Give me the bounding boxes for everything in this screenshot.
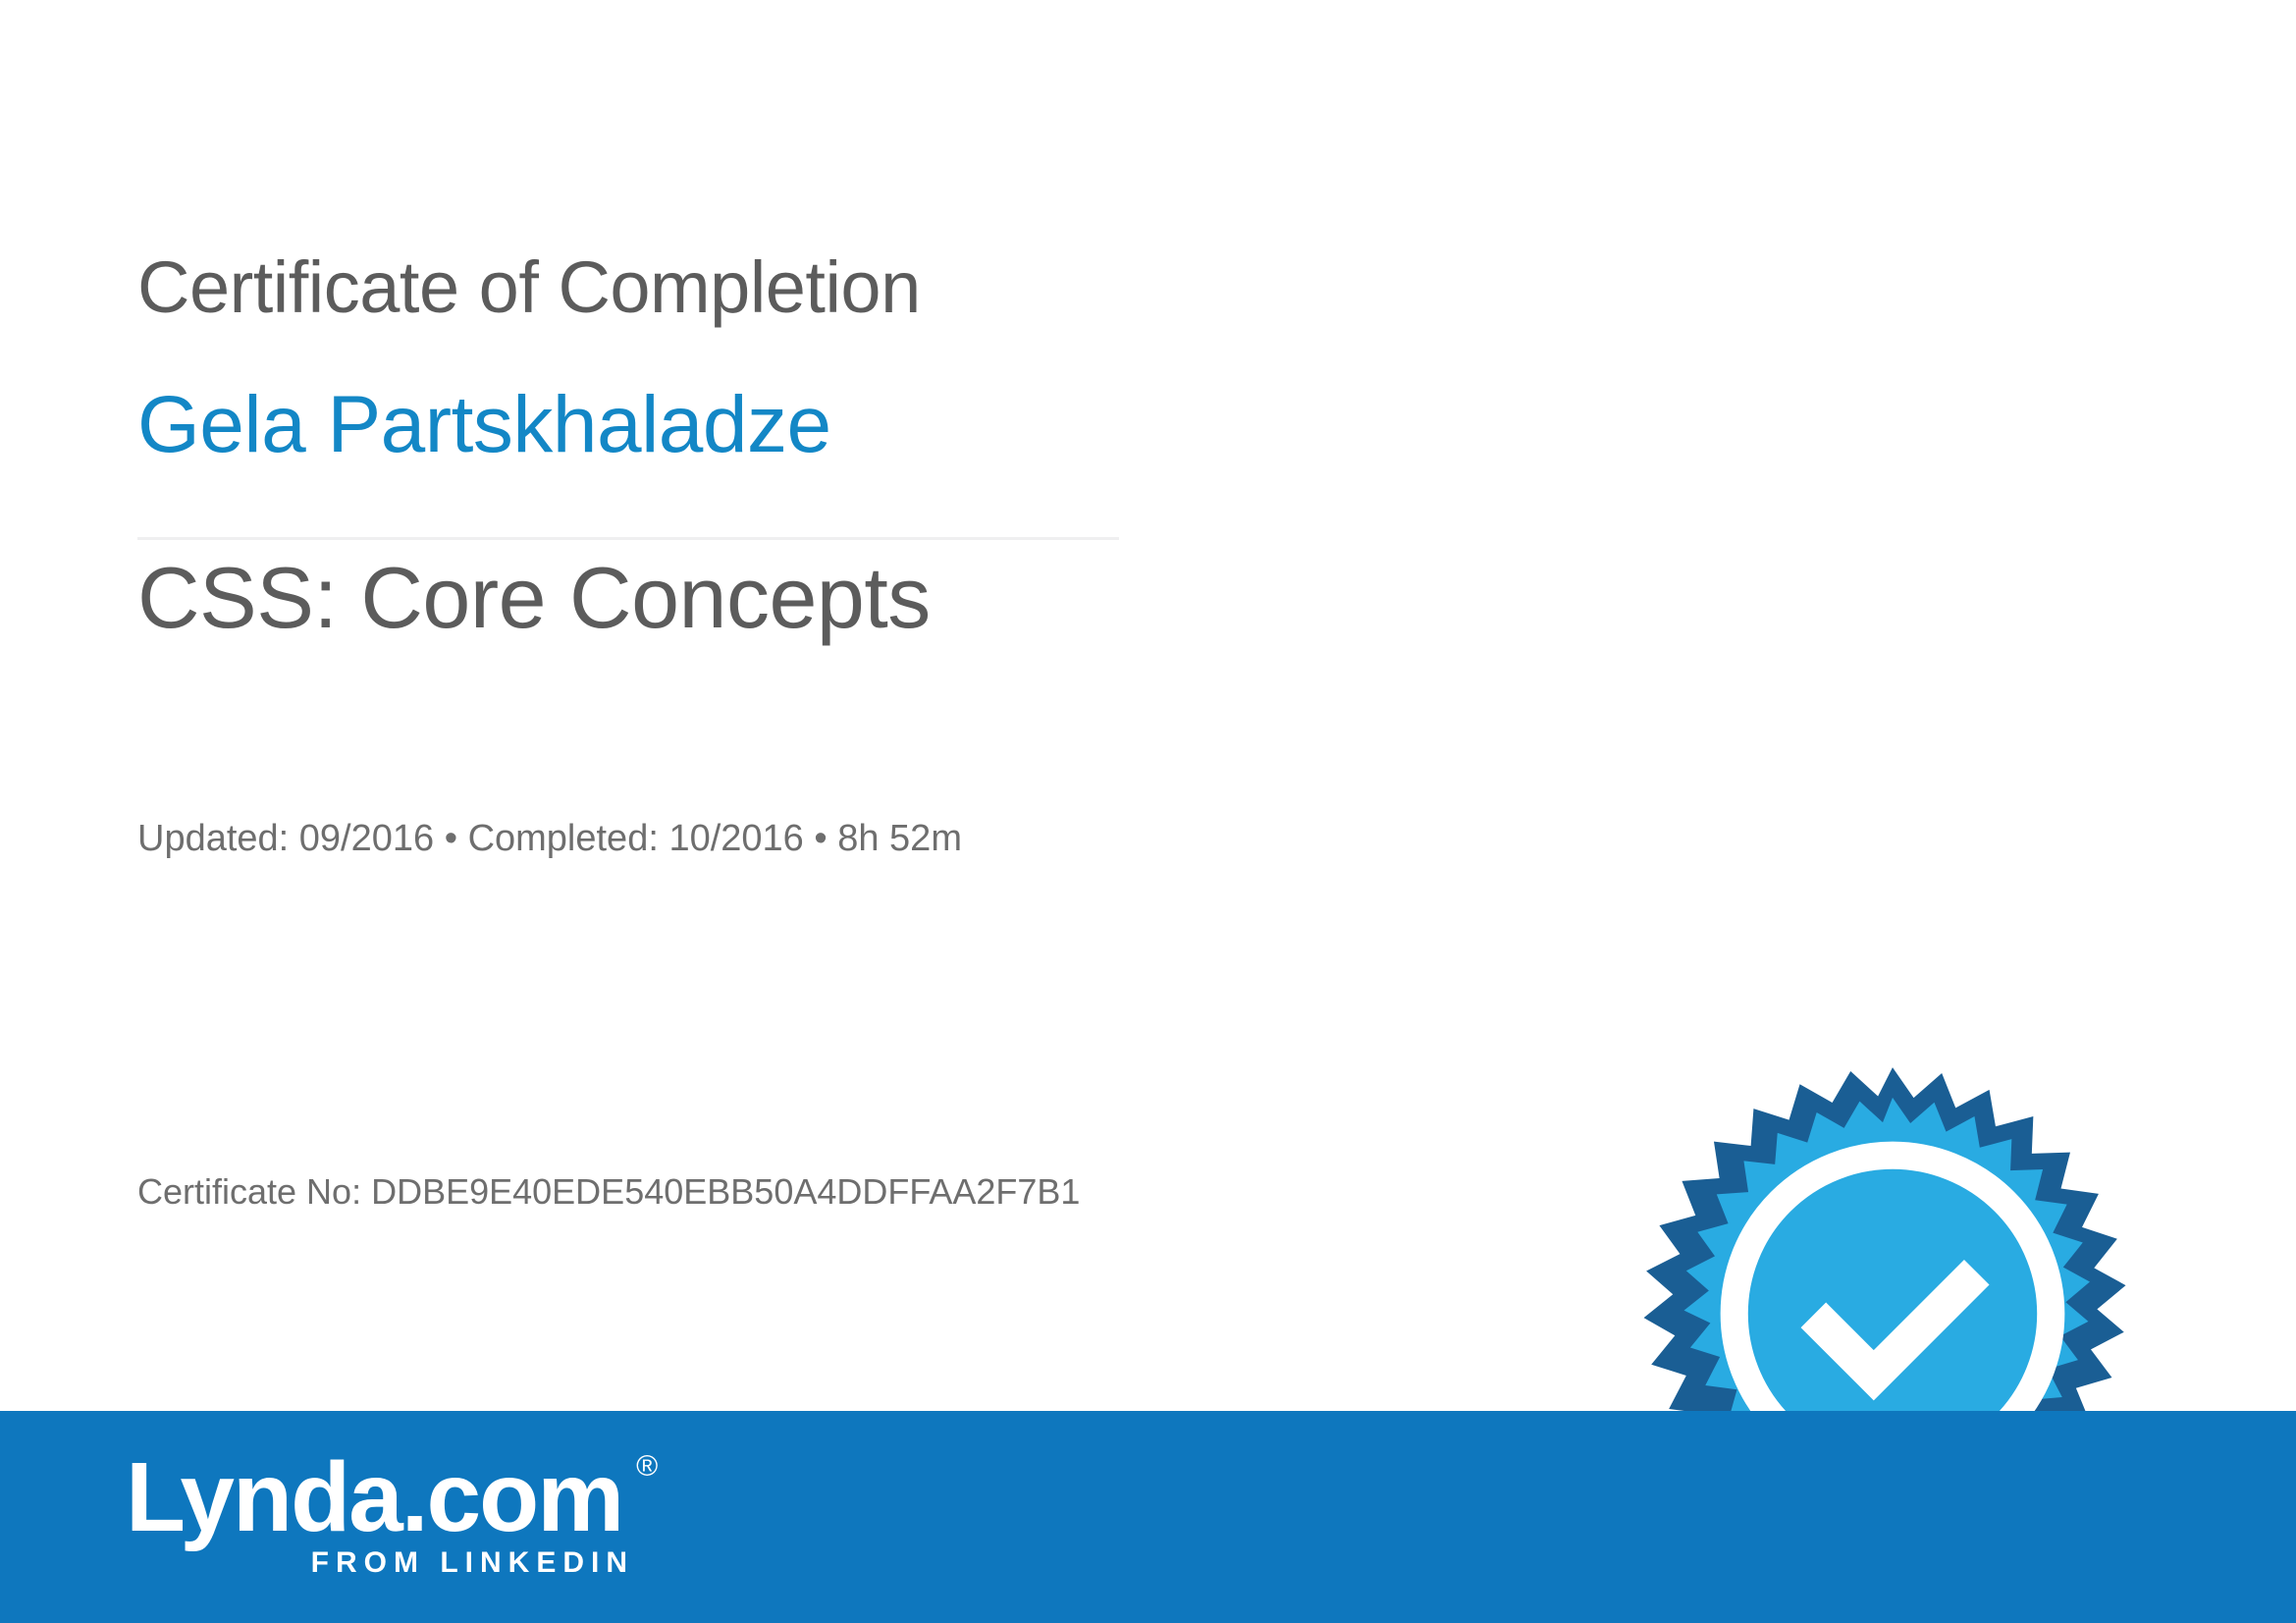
certificate-number: Certificate No: DDBE9E40EDE540EBB50A4DDF… [137, 1174, 1080, 1210]
footer-brand-bar: Lynda.com ® FROM LINKEDIN [0, 1411, 2296, 1623]
registered-trademark-icon: ® [636, 1452, 656, 1482]
lynda-wordmark: Lynda.com ® [126, 1448, 622, 1546]
lynda-tagline: FROM LINKEDIN [126, 1548, 634, 1578]
lynda-wordmark-text: Lynda.com [126, 1442, 622, 1552]
lynda-logo: Lynda.com ® FROM LINKEDIN [126, 1448, 675, 1578]
recipient-name: Gela Partskhaladze [137, 385, 831, 465]
certificate-page: Certificate of Completion Gela Partskhal… [0, 0, 2296, 1623]
course-meta-line: Updated: 09/2016 • Completed: 10/2016 • … [137, 820, 962, 857]
course-title: CSS: Core Concepts [137, 555, 931, 641]
name-divider [137, 537, 1119, 540]
page-title: Certificate of Completion [137, 251, 921, 324]
